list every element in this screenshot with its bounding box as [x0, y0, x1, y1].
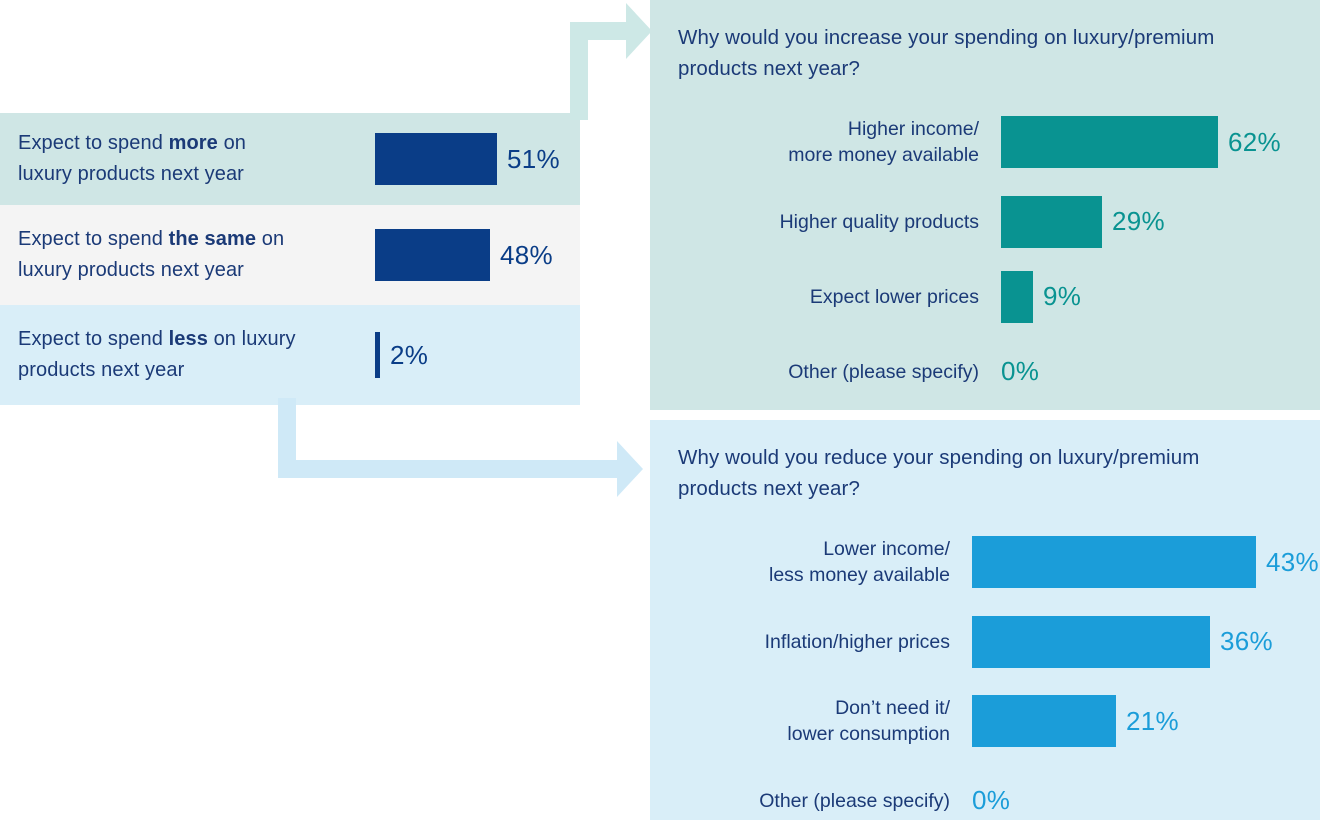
arrow-to-reduce-panel [268, 398, 660, 498]
chart-row-label: Other (please specify) [650, 359, 1001, 385]
row-label-emphasis: the same [169, 228, 257, 250]
row-bar-zone: 51% [375, 113, 580, 205]
row-bar-zone: 48% [375, 205, 580, 305]
row-label: Expect to spend the same on luxury produ… [0, 224, 375, 286]
row-label-line1-post: on luxury [208, 328, 296, 350]
row-label-line2: luxury products next year [18, 163, 244, 185]
chart-row-label: Expect lower prices [650, 284, 1001, 310]
bar-higher-quality [1001, 196, 1102, 248]
panel-title: Why would you reduce your spending on lu… [650, 442, 1320, 504]
panel-why-reduce: Why would you reduce your spending on lu… [650, 420, 1320, 820]
panel-why-increase: Why would you increase your spending on … [650, 0, 1320, 410]
bar-value-label: 29% [1112, 206, 1165, 237]
label-line1: Higher quality products [780, 211, 979, 233]
chart-row: Higher income/ more money available 62% [650, 100, 1320, 184]
chart-row-bar-zone: 29% [1001, 196, 1165, 248]
label-line1: Other (please specify) [759, 790, 950, 812]
chart-row-bar-zone: 21% [972, 695, 1179, 747]
table-row: Expect to spend more on luxury products … [0, 113, 580, 205]
chart-row-bar-zone: 0% [1001, 346, 1039, 398]
label-line1: Higher income/ [848, 118, 979, 140]
row-label-line1-pre: Expect to spend [18, 132, 169, 154]
chart-row-bar-zone: 36% [972, 616, 1273, 668]
chart-row-bar-zone: 9% [1001, 271, 1081, 323]
arrow-stem-horizontal [278, 460, 623, 478]
bar-value-label: 9% [1043, 281, 1081, 312]
bar-expect-lower-prices [1001, 271, 1033, 323]
row-label-line1-post: on [256, 228, 284, 250]
reduce-reasons-chart: Lower income/ less money available 43% I… [650, 520, 1320, 838]
label-line1: Expect lower prices [810, 286, 979, 308]
chart-row: Expect lower prices 9% [650, 259, 1320, 334]
row-label-emphasis: more [169, 132, 218, 154]
chart-row-label: Lower income/ less money available [650, 536, 972, 588]
bar-value-label: 62% [1228, 127, 1281, 158]
row-bar-zone: 2% [375, 305, 580, 405]
bar-expect-same [375, 229, 490, 281]
bar-value-label: 43% [1266, 547, 1319, 578]
bar-value-label: 0% [972, 785, 1010, 816]
bar-value-label: 48% [500, 240, 553, 271]
chart-row-label: Inflation/higher prices [650, 629, 972, 655]
infographic-stage: Expect to spend more on luxury products … [0, 0, 1320, 820]
chart-row-bar-zone: 62% [1001, 116, 1281, 168]
chart-row: Other (please specify) 0% [650, 763, 1320, 838]
arrow-head-icon [617, 441, 643, 497]
chart-row: Lower income/ less money available 43% [650, 520, 1320, 604]
label-line1: Don’t need it/ [835, 697, 950, 719]
bar-value-label: 36% [1220, 626, 1273, 657]
chart-row-label: Other (please specify) [650, 788, 972, 814]
chart-row-bar-zone: 0% [972, 775, 1010, 827]
chart-row-label: Don’t need it/ lower consumption [650, 695, 972, 747]
label-line2: lower consumption [787, 723, 950, 745]
chart-row-label: Higher income/ more money available [650, 116, 1001, 168]
chart-row: Higher quality products 29% [650, 184, 1320, 259]
bar-expect-less [375, 332, 380, 378]
bar-value-label: 2% [390, 340, 428, 371]
chart-row: Inflation/higher prices 36% [650, 604, 1320, 679]
expected-spending-chart: Expect to spend more on luxury products … [0, 113, 580, 405]
panel-title: Why would you increase your spending on … [650, 22, 1320, 84]
bar-value-label: 0% [1001, 356, 1039, 387]
label-line2: less money available [769, 564, 950, 586]
table-row: Expect to spend less on luxury products … [0, 305, 580, 405]
label-line2: more money available [788, 144, 979, 166]
bar-value-label: 21% [1126, 706, 1179, 737]
arrow-head-icon [626, 3, 652, 59]
chart-row-bar-zone: 43% [972, 536, 1319, 588]
arrow-stem-horizontal [570, 22, 632, 40]
row-label-emphasis: less [169, 328, 208, 350]
chart-row-label: Higher quality products [650, 209, 1001, 235]
bar-expect-more [375, 133, 497, 185]
label-line1: Lower income/ [823, 538, 950, 560]
row-label: Expect to spend less on luxury products … [0, 324, 375, 386]
chart-row: Don’t need it/ lower consumption 21% [650, 679, 1320, 763]
label-line1: Inflation/higher prices [765, 631, 950, 653]
bar-lower-income [972, 536, 1256, 588]
bar-higher-income [1001, 116, 1218, 168]
increase-reasons-chart: Higher income/ more money available 62% … [650, 100, 1320, 409]
row-label: Expect to spend more on luxury products … [0, 128, 375, 190]
row-label-line2: luxury products next year [18, 259, 244, 281]
label-line1: Other (please specify) [788, 361, 979, 383]
row-label-line1-post: on [218, 132, 246, 154]
bar-inflation [972, 616, 1210, 668]
bar-value-label: 51% [507, 144, 560, 175]
arrow-to-increase-panel [560, 0, 660, 120]
table-row: Expect to spend the same on luxury produ… [0, 205, 580, 305]
row-label-line1-pre: Expect to spend [18, 328, 169, 350]
chart-row: Other (please specify) 0% [650, 334, 1320, 409]
bar-dont-need-it [972, 695, 1116, 747]
row-label-line1-pre: Expect to spend [18, 228, 169, 250]
row-label-line2: products next year [18, 359, 184, 381]
